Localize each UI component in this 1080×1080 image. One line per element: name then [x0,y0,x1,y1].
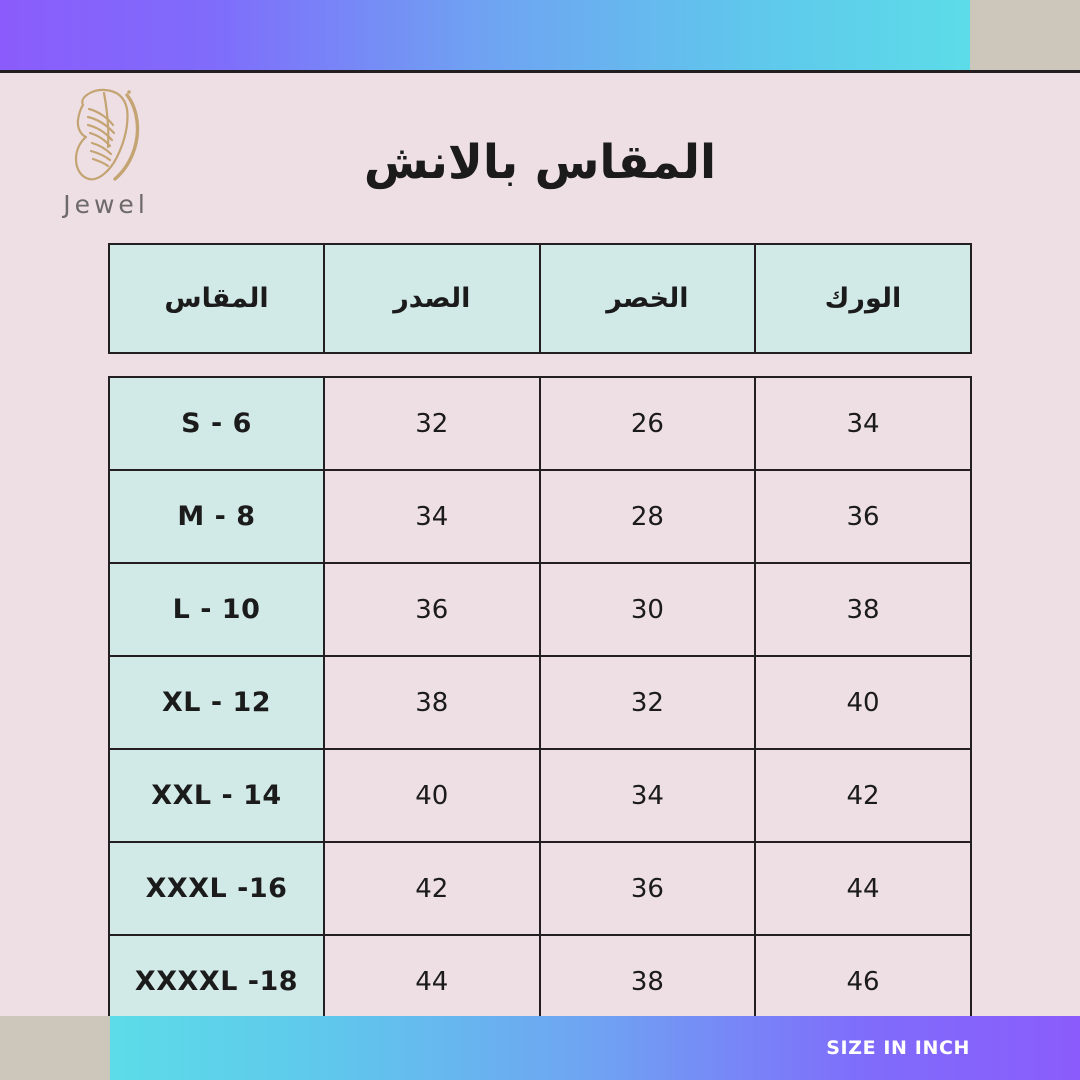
column-header-size: المقاس [109,244,324,353]
cell-hip: 38 [755,563,971,656]
page-title: المقاس بالانش [0,135,1080,190]
cell-chest: 32 [324,377,540,470]
table-row: S - 6 32 26 34 [109,377,971,470]
cell-size: XL - 12 [109,656,324,749]
table-header-row: المقاس الصدر الخصر الورك [109,244,971,353]
cell-size: XXL - 14 [109,749,324,842]
table-row: M - 8 34 28 36 [109,470,971,563]
logo-dot-icon [127,90,131,94]
cell-size: XXXXL -18 [109,935,324,1028]
size-unit-label: SIZE IN INCH [826,1016,970,1080]
cell-size: M - 8 [109,470,324,563]
top-gradient-bar [0,0,970,70]
column-header-chest: الصدر [324,244,540,353]
cell-waist: 30 [540,563,756,656]
table-row: XXL - 14 40 34 42 [109,749,971,842]
size-chart-body-table: S - 6 32 26 34 M - 8 34 28 36 L - 10 36 [108,376,972,1029]
column-header-hip: الورك [755,244,971,353]
bottom-left-frame-strip [0,1016,110,1080]
cell-hip: 46 [755,935,971,1028]
cell-size: L - 10 [109,563,324,656]
poster-canvas: Jewel المقاس بالانش المقاس الصدر الخصر ا… [0,73,1080,1016]
cell-waist: 28 [540,470,756,563]
cell-waist: 26 [540,377,756,470]
cell-hip: 44 [755,842,971,935]
table-row: XXXXL -18 44 38 46 [109,935,971,1028]
size-chart-table: المقاس الصدر الخصر الورك S - 6 32 26 [108,243,970,1029]
cell-waist: 34 [540,749,756,842]
cell-chest: 44 [324,935,540,1028]
table-row: L - 10 36 30 38 [109,563,971,656]
cell-chest: 36 [324,563,540,656]
cell-chest: 34 [324,470,540,563]
cell-hip: 36 [755,470,971,563]
column-header-waist: الخصر [540,244,756,353]
cell-hip: 42 [755,749,971,842]
size-chart-poster: Jewel المقاس بالانش المقاس الصدر الخصر ا… [0,0,1080,1080]
cell-chest: 38 [324,656,540,749]
cell-waist: 38 [540,935,756,1028]
cell-hip: 34 [755,377,971,470]
cell-waist: 32 [540,656,756,749]
cell-chest: 40 [324,749,540,842]
size-chart-header-table: المقاس الصدر الخصر الورك [108,243,972,354]
table-row: XXXL -16 42 36 44 [109,842,971,935]
cell-chest: 42 [324,842,540,935]
cell-hip: 40 [755,656,971,749]
cell-size: XXXL -16 [109,842,324,935]
cell-size: S - 6 [109,377,324,470]
cell-waist: 36 [540,842,756,935]
brand-name: Jewel [36,190,176,219]
bottom-gradient-bar: SIZE IN INCH [110,1016,1080,1080]
table-row: XL - 12 38 32 40 [109,656,971,749]
